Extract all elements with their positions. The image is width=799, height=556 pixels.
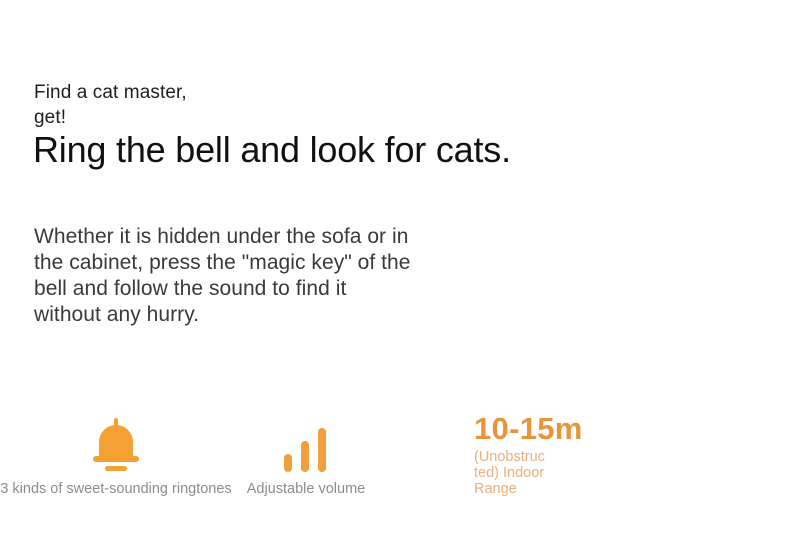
volume-bar-high bbox=[318, 428, 326, 472]
feature-range: 10-15m (Unobstructed) Indoor Range bbox=[440, 412, 640, 497]
range-caption: (Unobstructed) Indoor Range bbox=[474, 449, 548, 497]
body-paragraph: Whether it is hidden under the sofa or i… bbox=[34, 224, 514, 328]
volume-bar-low bbox=[284, 454, 292, 472]
feature-caption-ringtones: 3 kinds of sweet-sounding ringtones bbox=[0, 480, 232, 498]
feature-icon-slot bbox=[232, 412, 380, 472]
feature-ringtones: 3 kinds of sweet-sounding ringtones bbox=[0, 412, 232, 498]
volume-bar-mid bbox=[301, 441, 309, 472]
page-title: Ring the bell and look for cats. bbox=[33, 128, 773, 172]
bell-base bbox=[93, 456, 139, 462]
feature-icon-slot bbox=[0, 412, 232, 472]
feature-row: 3 kinds of sweet-sounding ringtones Adju… bbox=[0, 412, 799, 522]
product-feature-slide: Find a cat master, get! Ring the bell an… bbox=[0, 0, 799, 556]
volume-bars-icon bbox=[282, 426, 330, 472]
bell-clapper bbox=[105, 466, 127, 471]
bell-icon bbox=[88, 416, 144, 472]
bell-dome bbox=[99, 425, 133, 459]
feature-volume: Adjustable volume bbox=[232, 412, 380, 498]
kicker-text: Find a cat master, get! bbox=[34, 80, 394, 132]
feature-caption-volume: Adjustable volume bbox=[232, 480, 380, 498]
range-value: 10-15m bbox=[474, 412, 640, 446]
